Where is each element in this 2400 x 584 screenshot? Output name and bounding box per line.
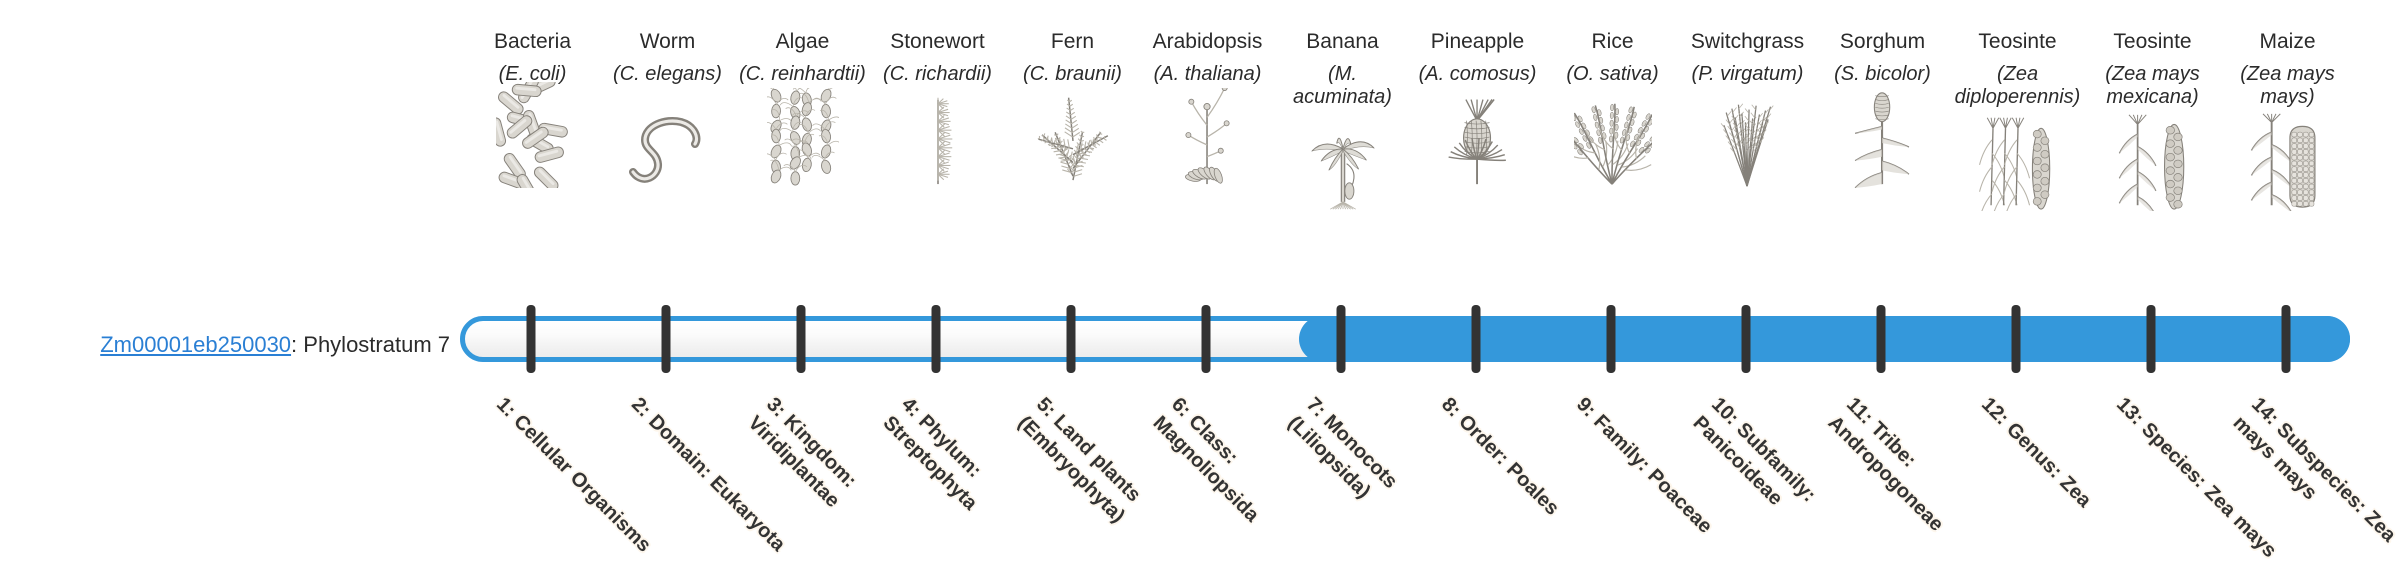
species-common-name: Bacteria [494,30,571,54]
species-column: Teosinte(Zea mays mexicana) [2085,30,2220,211]
phylostratum-tick[interactable] [2012,305,2021,373]
phylostratum-tick[interactable] [1877,305,1886,373]
phylostratum-tick[interactable] [1742,305,1751,373]
phylostratum-progress-bar[interactable] [460,316,2350,362]
phylostratum-tick[interactable] [1472,305,1481,373]
species-scientific-name: (Zea mays mexicana) [2087,63,2218,109]
species-column: Teosinte(Zea diploperennis) [1950,30,2085,211]
teosinte-mexicana-icon [2111,113,2195,211]
species-scientific-name: (S. bicolor) [1834,63,1931,86]
phylostratum-tick[interactable] [2147,305,2156,373]
species-header-row: Bacteria(E. coli) [465,30,2355,305]
switchgrass-icon [1709,90,1787,188]
species-column: Bacteria(E. coli) [465,30,600,188]
phylostratum-tick[interactable] [1607,305,1616,373]
species-common-name: Pineapple [1431,30,1524,54]
phylostratum-tick[interactable] [1202,305,1211,373]
species-common-name: Stonewort [890,30,985,54]
species-scientific-name: (A. thaliana) [1154,63,1262,86]
algae-icon [767,90,839,188]
fern-icon [1035,90,1111,188]
species-scientific-name: (Zea diploperennis) [1952,63,2083,109]
species-column: Algae(C. reinhardtii) [735,30,870,188]
species-column: Maize(Zea mays mays) [2220,30,2355,211]
worm-icon [625,90,711,188]
species-common-name: Sorghum [1840,30,1925,54]
progress-fill [1299,316,2350,362]
species-common-name: Rice [1591,30,1633,54]
bacteria-icon [496,90,570,188]
phylostratum-tick[interactable] [1067,305,1076,373]
species-common-name: Banana [1306,30,1378,54]
species-scientific-name: (C. richardii) [883,63,992,86]
phylostratum-timeline: Zm00001eb250030: Phylostratum 7 Bacteria… [0,0,2400,580]
species-scientific-name: (C. braunii) [1023,63,1122,86]
species-common-name: Teosinte [1978,30,2056,54]
species-scientific-name: (C. reinhardtii) [739,63,866,86]
species-column: Worm(C. elegans) [600,30,735,188]
species-column: Pineapple(A. comosus) [1410,30,1545,188]
species-scientific-name: (P. virgatum) [1692,63,1804,86]
gene-phylostratum-text: : Phylostratum 7 [291,332,450,357]
species-column: Switchgrass(P. virgatum) [1680,30,1815,188]
species-common-name: Teosinte [2113,30,2191,54]
maize-icon [2247,113,2329,211]
phylostratum-tick[interactable] [1337,305,1346,373]
gene-label: Zm00001eb250030: Phylostratum 7 [0,332,450,358]
species-common-name: Maize [2259,30,2315,54]
pineapple-icon [1441,90,1515,188]
phylostratum-tick[interactable] [662,305,671,373]
species-scientific-name: (C. elegans) [613,63,722,86]
species-column: Rice(O. sativa) [1545,30,1680,188]
phylostratum-tick[interactable] [2282,305,2291,373]
species-scientific-name: (A. comosus) [1419,63,1537,86]
species-column: Banana(M. acuminata) [1275,30,1410,211]
species-common-name: Algae [776,30,830,54]
species-column: Fern(C. braunii) [1005,30,1140,188]
teosinte-diplo-icon [1976,113,2060,211]
phylostratum-tick[interactable] [797,305,806,373]
species-scientific-name: (O. sativa) [1566,63,1658,86]
species-common-name: Switchgrass [1691,30,1804,54]
species-common-name: Fern [1051,30,1094,54]
phylostratum-label: 14: Subspecies: Zea mays mays [2227,392,2400,584]
species-common-name: Arabidopsis [1153,30,1263,54]
phylostratum-tick[interactable] [932,305,941,373]
species-column: Sorghum(S. bicolor) [1815,30,1950,188]
rice-icon [1574,90,1652,188]
arabidopsis-icon [1173,90,1243,188]
species-column: Stonewort(C. richardii) [870,30,1005,188]
gene-id-link[interactable]: Zm00001eb250030 [100,332,291,357]
stonewort-icon [904,90,972,188]
sorghum-icon [1846,90,1920,188]
species-column: Arabidopsis(A. thaliana) [1140,30,1275,188]
phylostratum-tick[interactable] [527,305,536,373]
banana-icon [1303,113,1383,211]
species-scientific-name: (M. acuminata) [1277,63,1408,109]
species-common-name: Worm [640,30,696,54]
species-scientific-name: (Zea mays mays) [2222,63,2353,109]
